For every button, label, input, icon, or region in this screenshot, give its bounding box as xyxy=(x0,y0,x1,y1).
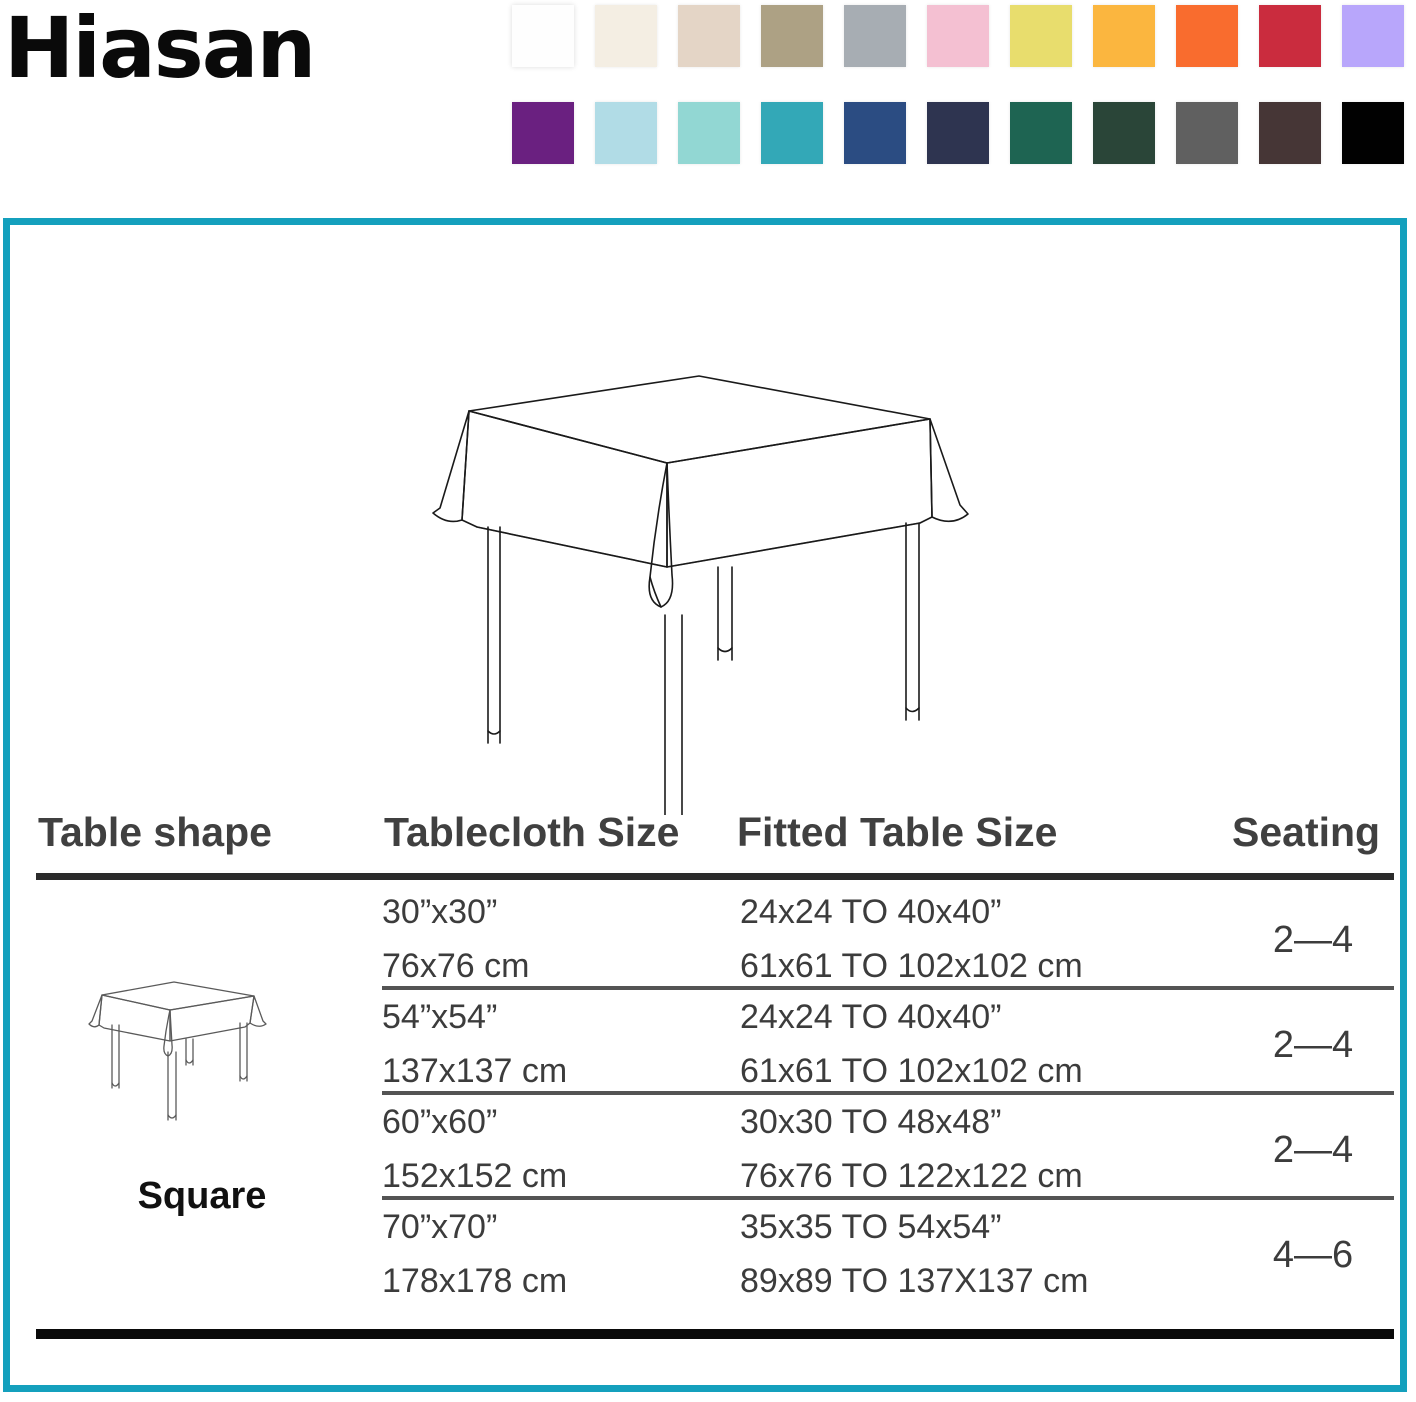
column-header-seating: Seating xyxy=(1232,809,1380,856)
square-table-illustration xyxy=(420,345,1000,815)
square-table-icon xyxy=(82,973,322,1163)
color-swatch-turquoise[interactable] xyxy=(761,102,823,164)
color-swatch-teal-green[interactable] xyxy=(1010,102,1072,164)
color-swatch-aqua[interactable] xyxy=(678,102,740,164)
color-swatch-ivory[interactable] xyxy=(595,5,657,67)
size-guide-panel: Table shape Tablecloth Size Fitted Table… xyxy=(3,218,1407,1392)
cell-tablecloth-size-cm: 178x178 cm xyxy=(382,1262,567,1301)
table-shape-cell: Square xyxy=(52,973,352,1218)
cell-tablecloth-size-cm: 137x137 cm xyxy=(382,1052,567,1091)
table-shape-label: Square xyxy=(52,1175,352,1218)
cell-seating: 4—6 xyxy=(1238,1234,1388,1277)
color-swatch-silver-grey[interactable] xyxy=(844,5,906,67)
cell-fitted-size-inches: 24x24 TO 40x40” xyxy=(740,998,1001,1037)
color-swatch-light-blue[interactable] xyxy=(595,102,657,164)
cell-tablecloth-size-inches: 70”x70” xyxy=(382,1208,497,1247)
color-swatch-red[interactable] xyxy=(1259,5,1321,67)
swatch-row-1 xyxy=(512,5,1416,67)
color-swatch-pink[interactable] xyxy=(927,5,989,67)
color-swatch-gold[interactable] xyxy=(1093,5,1155,67)
color-swatch-beige[interactable] xyxy=(678,5,740,67)
cell-seating: 2—4 xyxy=(1238,919,1388,962)
cell-tablecloth-size-cm: 152x152 cm xyxy=(382,1157,567,1196)
color-swatch-coffee-brown[interactable] xyxy=(1259,102,1321,164)
column-header-table-shape: Table shape xyxy=(38,809,272,856)
color-swatch-khaki[interactable] xyxy=(761,5,823,67)
cell-fitted-size-cm: 89x89 TO 137X137 cm xyxy=(740,1262,1088,1301)
cell-fitted-size-cm: 61x61 TO 102x102 cm xyxy=(740,947,1083,986)
color-swatch-forest-green[interactable] xyxy=(1093,102,1155,164)
brand-logo: Hiasan xyxy=(4,6,314,90)
color-swatch-dark-navy[interactable] xyxy=(927,102,989,164)
size-table-header-row: Table shape Tablecloth Size Fitted Table… xyxy=(10,805,1400,867)
cell-fitted-size-inches: 35x35 TO 54x54” xyxy=(740,1208,1001,1247)
cell-seating: 2—4 xyxy=(1238,1024,1388,1067)
table-bottom-divider xyxy=(36,1329,1394,1339)
header-divider xyxy=(36,873,1394,880)
cell-tablecloth-size-inches: 30”x30” xyxy=(382,893,497,932)
cell-tablecloth-size-cm: 76x76 cm xyxy=(382,947,529,986)
header-banner: Hiasan xyxy=(0,0,1416,200)
cell-fitted-size-cm: 61x61 TO 102x102 cm xyxy=(740,1052,1083,1091)
cell-tablecloth-size-inches: 54”x54” xyxy=(382,998,497,1037)
color-swatch-white[interactable] xyxy=(512,5,574,67)
color-swatch-dark-grey[interactable] xyxy=(1176,102,1238,164)
column-header-tablecloth-size: Tablecloth Size xyxy=(384,809,679,856)
swatch-row-2 xyxy=(512,102,1416,164)
cell-fitted-size-inches: 24x24 TO 40x40” xyxy=(740,893,1001,932)
cell-tablecloth-size-inches: 60”x60” xyxy=(382,1103,497,1142)
color-swatch-black[interactable] xyxy=(1342,102,1404,164)
cell-fitted-size-inches: 30x30 TO 48x48” xyxy=(740,1103,1001,1142)
cell-seating: 2—4 xyxy=(1238,1129,1388,1172)
size-table: Table shape Tablecloth Size Fitted Table… xyxy=(10,805,1400,1365)
color-swatch-purple[interactable] xyxy=(512,102,574,164)
color-swatch-yellow[interactable] xyxy=(1010,5,1072,67)
cell-fitted-size-cm: 76x76 TO 122x122 cm xyxy=(740,1157,1083,1196)
column-header-fitted-table-size: Fitted Table Size xyxy=(737,809,1057,856)
color-swatch-lavender[interactable] xyxy=(1342,5,1404,67)
color-swatch-grid xyxy=(512,5,1416,199)
color-swatch-orange[interactable] xyxy=(1176,5,1238,67)
color-swatch-navy-blue[interactable] xyxy=(844,102,906,164)
